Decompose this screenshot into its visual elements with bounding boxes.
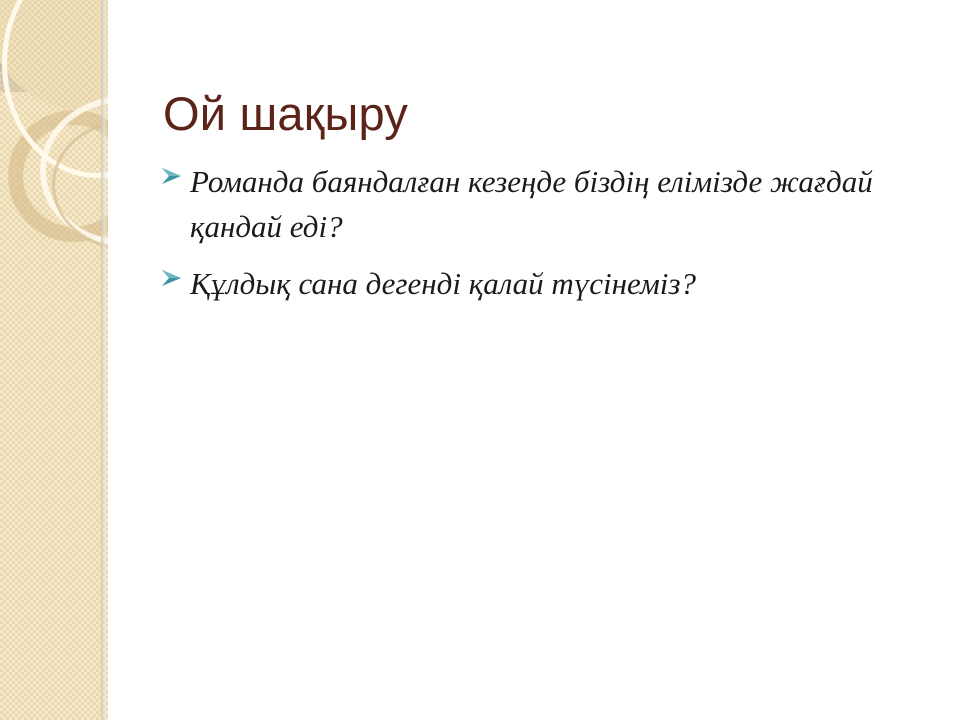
presentation-slide: Ой шақыру Романда баяндалған кезеңде біз… bbox=[0, 0, 960, 720]
bullet-text: Романда баяндалған кезеңде біздің еліміз… bbox=[190, 160, 920, 250]
decorative-sidebar bbox=[0, 0, 108, 720]
slide-body-content: Романда баяндалған кезеңде біздің еліміз… bbox=[160, 160, 920, 319]
bullet-item: Романда баяндалған кезеңде біздің еліміз… bbox=[160, 160, 920, 250]
arrow-bullet-icon bbox=[160, 160, 190, 190]
sidebar-right-edge-divider bbox=[101, 0, 108, 720]
slide-title: Ой шақыру bbox=[163, 89, 903, 140]
bullet-item: Құлдық сана дегенді қалай түсінеміз? bbox=[160, 262, 920, 307]
arrow-bullet-icon bbox=[160, 262, 190, 292]
bullet-text: Құлдық сана дегенді қалай түсінеміз? bbox=[190, 262, 920, 307]
